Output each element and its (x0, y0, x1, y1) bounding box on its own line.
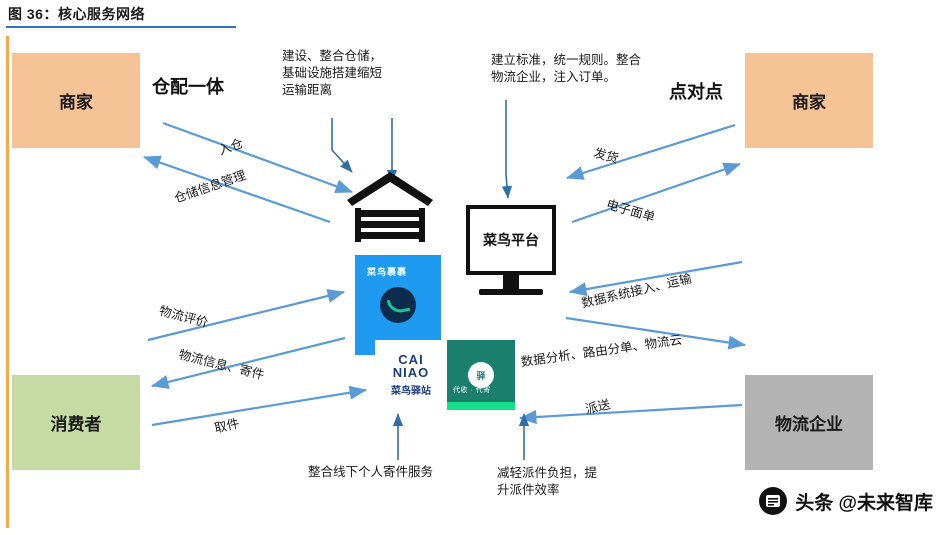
watermark-icon (759, 487, 787, 515)
arrow-label-data-analysis: 数据分析、路由分单、物流云 (519, 329, 683, 370)
box-consumer-label: 消费者 (51, 410, 102, 435)
watermark-text: 头条 @未来智库 (795, 488, 933, 515)
arrow-label-data-access: 数据系统接入、运输 (579, 268, 693, 312)
arrow-label-warehouse-info: 仓储信息管理 (171, 164, 248, 206)
box-merchant-right: 商家 (745, 53, 873, 148)
box-merchant-right-label: 商家 (792, 88, 826, 113)
app-bird-icon (380, 287, 416, 323)
box-logistics-label: 物流企业 (775, 410, 843, 435)
heading-cangpei-yiti: 仓配一体 (152, 73, 224, 99)
warehouse-icon (345, 170, 435, 250)
left-accent-bar (6, 36, 9, 528)
cainiao-platform-node: 菜鸟平台 (466, 205, 556, 275)
station-photo: 驿 (447, 340, 515, 410)
watermark: 头条 @未来智库 (759, 487, 933, 515)
annotation-warehouse: 建设、整合仓储，基础设施搭建缩短运输距离 (282, 48, 392, 99)
annotation-platform: 建立标准，统一规则。整合物流企业，注入订单。 (491, 52, 641, 86)
arrow-label-ewaybill: 电子面单 (604, 193, 657, 225)
arrow-label-fahuo: 发货 (592, 142, 621, 167)
diagram-canvas: 图 36：核心服务网络 (0, 0, 949, 535)
arrow-label-pickup: 取件 (212, 412, 241, 436)
app-logo-label: 菜鸟裹裹 (367, 265, 407, 278)
heading-point-to-point: 点对点 (669, 78, 723, 104)
station-logo-niao: NIAO (393, 366, 430, 379)
arrow-label-dispatch: 派送 (583, 393, 612, 417)
station-logo-cn: 菜鸟驿站 (391, 382, 431, 397)
station-logo: CAI NIAO 菜鸟驿站 (375, 340, 447, 410)
title-underline (6, 26, 236, 28)
cainiao-station-card: CAI NIAO 菜鸟驿站 驿 代收 · 代寄 (375, 340, 515, 410)
page-title: 图 36：核心服务网络 (8, 4, 145, 24)
monitor-neck (503, 275, 519, 289)
box-merchant-left-label: 商家 (59, 88, 93, 113)
title-bar: 图 36：核心服务网络 (0, 0, 949, 30)
cainiao-platform-label: 菜鸟平台 (483, 230, 539, 250)
box-logistics: 物流企业 (745, 375, 873, 470)
station-service-label: 代收 · 代寄 (453, 385, 491, 395)
station-accent-bar (447, 402, 515, 410)
box-merchant-left: 商家 (12, 53, 140, 148)
arrow-label-ruku: 入仓 (216, 132, 246, 158)
annotation-delivery-relief: 减轻派件负担，提升派件效率 (497, 465, 597, 499)
box-consumer: 消费者 (12, 375, 140, 470)
monitor-base (479, 289, 543, 295)
arrow-label-logistics-rating: 物流评价 (157, 300, 210, 331)
arrow-label-logistics-info: 物流信息、寄件 (177, 344, 267, 384)
annotation-personal-parcel: 整合线下个人寄件服务 (308, 464, 478, 481)
